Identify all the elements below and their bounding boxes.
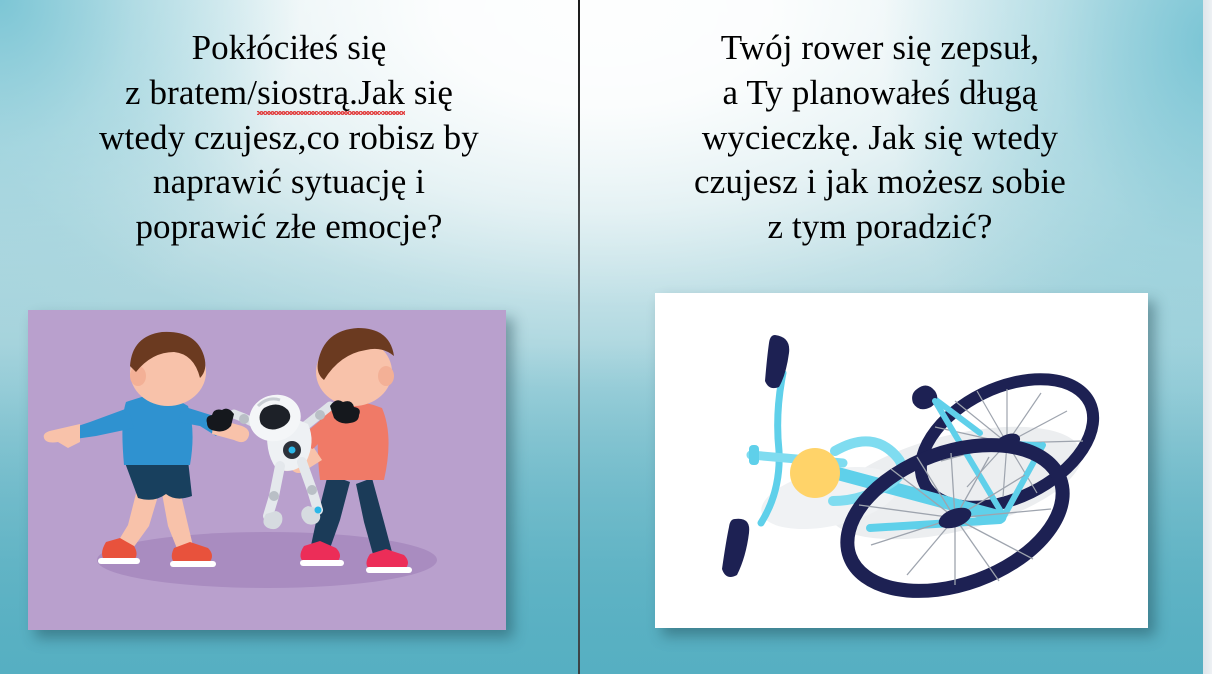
right-text-line-3: wycieczkę. Jak się wtedy [610, 116, 1150, 161]
right-question-text: Twój rower się zepsuł, a Ty planowałeś d… [610, 26, 1150, 250]
broken-bicycle-illustration [655, 293, 1148, 628]
left-question-text: Pokłóciłeś się z bratem/siostrą.Jak się … [18, 26, 560, 250]
right-text-line-4: czujesz i jak możesz sobie [610, 160, 1150, 205]
handlebar-clamp [749, 445, 759, 465]
broken-bicycle-svg [655, 293, 1148, 628]
left-text-line-5: poprawić złe emocje? [18, 205, 560, 250]
slide-right-edge [1203, 0, 1212, 674]
robot-knee-left [269, 491, 279, 501]
boy-right-shoe-back-sole [300, 560, 344, 566]
bicycle-chainring [790, 448, 840, 498]
kids-fighting-svg [28, 310, 506, 630]
left-text-line-2: z bratem/siostrą.Jak się [18, 71, 560, 116]
left-text-line-3: wtedy czujesz,co robisz by [18, 116, 560, 161]
right-text-line-1: Twój rower się zepsuł, [610, 26, 1150, 71]
spellcheck-misspelled-word: siostrą.Jak [257, 71, 405, 116]
right-text-line-5: z tym poradzić? [610, 205, 1150, 250]
robot-chest-light [289, 447, 296, 454]
left-line2-after: się [405, 73, 453, 112]
right-text-line-2: a Ty planowałeś długą [610, 71, 1150, 116]
boy-left-shoe-back-sole [98, 558, 140, 564]
boy-right-shoe-front-sole [366, 567, 412, 573]
boy-right-ear [378, 366, 394, 386]
left-line2-before: z bratem/ [125, 73, 257, 112]
kids-fighting-illustration [28, 310, 506, 630]
robot-elbow-right [315, 410, 325, 420]
robot-knee-right [307, 485, 317, 495]
boy-left-shirt [122, 395, 192, 465]
robot-elbow-left [239, 414, 249, 424]
boy-left-shoe-front-sole [170, 561, 216, 567]
left-text-line-1: Pokłóciłeś się [18, 26, 560, 71]
center-divider [578, 0, 580, 674]
slide: Pokłóciłeś się z bratem/siostrą.Jak się … [0, 0, 1212, 674]
left-text-line-4: naprawić sytuację i [18, 160, 560, 205]
robot-ankle-light [315, 507, 322, 514]
